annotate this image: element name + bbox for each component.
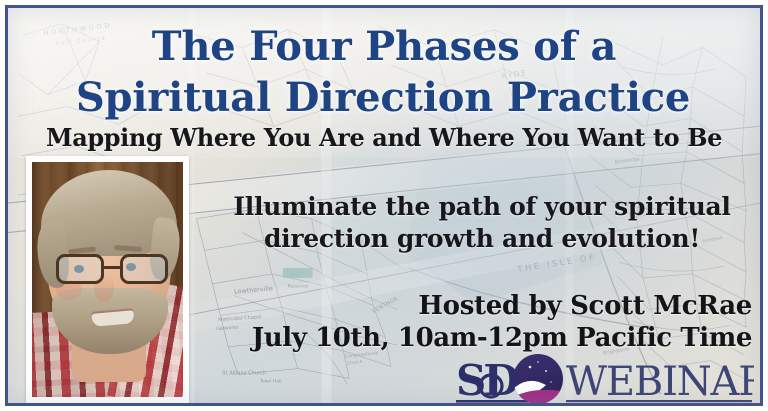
- tagline-line-1: Illuminate the path of your spiritual: [233, 192, 730, 221]
- lens-right: [120, 254, 168, 284]
- sdi-underline: [456, 400, 534, 403]
- speaker-photo: [32, 162, 183, 397]
- banner-frame: NORTHWOOD Golf Course RYDE Lowtherville …: [5, 5, 763, 406]
- webinar-promo-banner: NORTHWOOD Golf Course RYDE Lowtherville …: [0, 0, 768, 411]
- tagline: Illuminate the path of your spiritual di…: [208, 191, 756, 255]
- avatar: [26, 156, 189, 403]
- glasses-bridge: [104, 266, 120, 269]
- banner-content: The Four Phases of a Spiritual Direction…: [8, 8, 760, 403]
- lens-left: [56, 254, 104, 284]
- eyeglasses-icon: [56, 254, 168, 284]
- page-title-line-2: Spiritual Direction Practice: [8, 78, 758, 118]
- webinar-word: WEBINAR: [566, 359, 754, 405]
- sdi-webinar-logo: SDI: [454, 353, 754, 405]
- page-subtitle: Mapping Where You Are and Where You Want…: [8, 125, 760, 150]
- webinar-underline: [566, 400, 752, 402]
- host-label: Hosted by Scott McRae: [258, 291, 752, 321]
- sdi-globe-emblem: [513, 354, 563, 404]
- tagline-line-2: direction growth and evolution!: [208, 223, 756, 255]
- page-title-line-1: The Four Phases of a: [8, 27, 760, 67]
- sdi-webinar-logo-svg: SDI: [454, 353, 754, 405]
- date-time-label: July 10th, 10am-12pm Pacific Time: [178, 323, 752, 353]
